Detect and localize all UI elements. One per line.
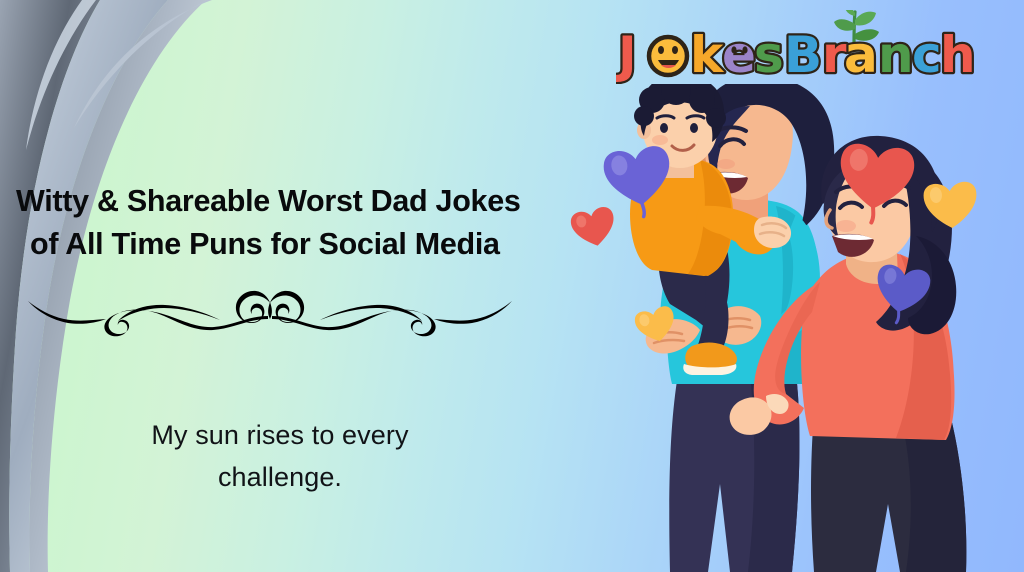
logo-letter-J: J [616, 26, 637, 84]
heart-purple-left [602, 144, 677, 221]
headline-line-2: of All Time Puns for Social Media [16, 223, 588, 265]
hearts-svg [570, 120, 1024, 360]
logo-letter-B: B [784, 26, 822, 84]
logo-letter-n: n [878, 26, 914, 84]
page-title: Witty & Shareable Worst Dad Jokes of All… [16, 180, 588, 264]
text-column: Witty & Shareable Worst Dad Jokes of All… [0, 0, 600, 572]
quote-card: Witty & Shareable Worst Dad Jokes of All… [0, 0, 1024, 572]
flourish-ornament-icon [20, 286, 520, 342]
flourish-divider [20, 286, 520, 342]
logo-letter-a: a [844, 26, 878, 84]
logo-letter-e-face: e [722, 26, 756, 84]
jokesbranch-logo-svg[interactable]: .lt{font-family:"DejaVu Sans", sans-seri… [616, 10, 976, 84]
child-hair-curl-3 [689, 87, 715, 113]
logo-letter-c: c [912, 26, 942, 84]
jokesbranch-logo[interactable]: .lt{font-family:"DejaVu Sans", sans-seri… [616, 10, 976, 84]
heart-purple-right [870, 263, 932, 328]
joke-line-2: challenge. [218, 462, 342, 492]
heart-yellow-left [633, 304, 679, 345]
joke-text: My sun rises to every challenge. [40, 415, 520, 499]
joke-line-1: My sun rises to every [151, 420, 408, 450]
heart-yellow-right [923, 181, 979, 230]
logo-letter-o-smiley [649, 37, 687, 75]
headline-line-1: Witty & Shareable Worst Dad Jokes [16, 184, 521, 218]
heart-red-right [835, 142, 916, 226]
logo-letter-s: s [754, 26, 784, 84]
logo-letter-h: h [940, 26, 976, 84]
floating-hearts [570, 120, 1024, 360]
logo-letter-k: k [690, 26, 725, 84]
svg-text:e: e [722, 26, 756, 84]
